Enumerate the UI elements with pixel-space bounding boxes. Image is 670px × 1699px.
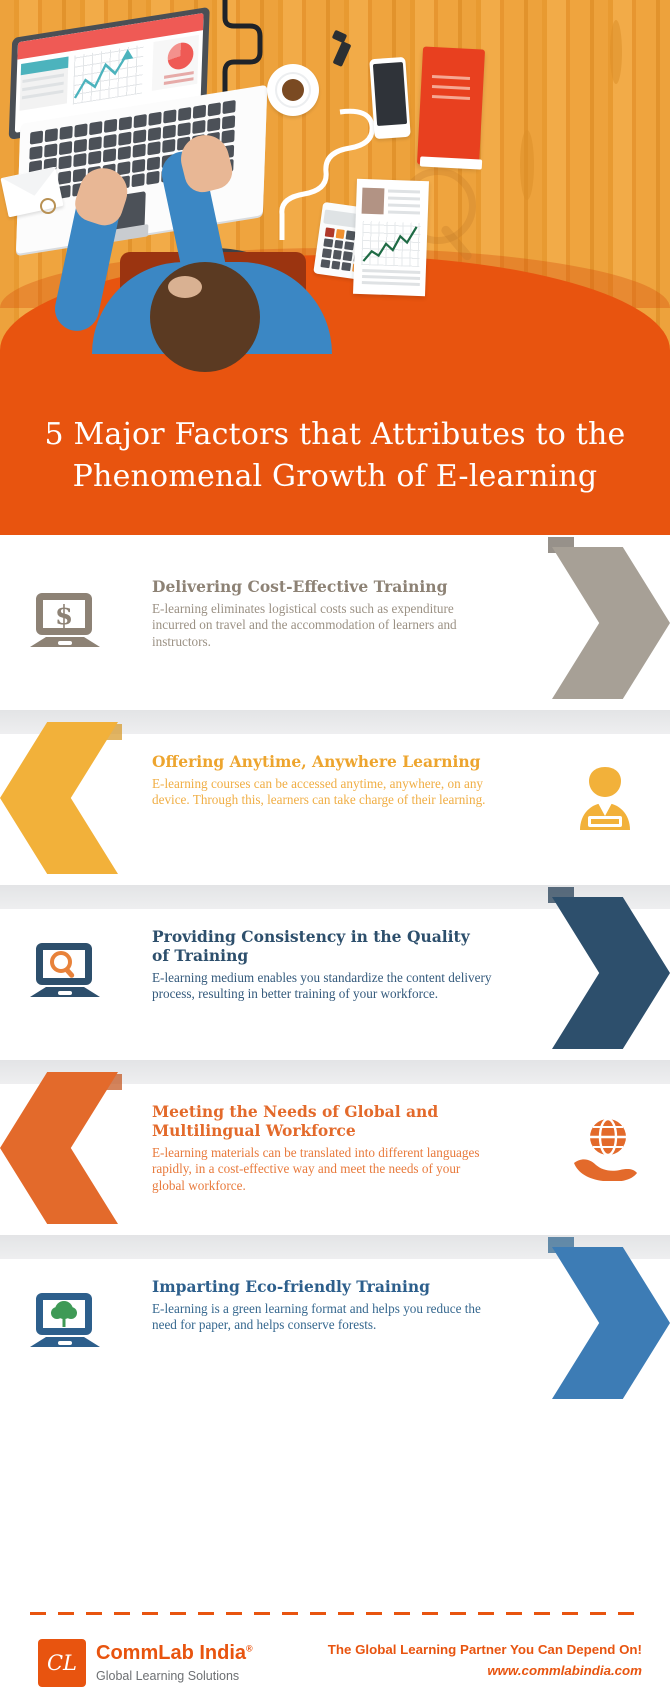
laptop-magnifier-icon [22,935,108,1011]
svg-text:$: $ [55,601,73,631]
laptop-dollar-icon: $ [22,585,108,661]
factors-list: $ Delivering Cost-Effective Training E-l… [0,535,670,1410]
hero-banner: 5 Major Factors that Attributes to the P… [0,0,670,535]
factor-body: E-learning is a green learning format an… [152,1301,492,1334]
wood-knot [520,130,534,200]
factor-text-4: Meeting the Needs of Global and Multilin… [152,1102,492,1194]
factor-heading: Offering Anytime, Anywhere Learning [152,752,492,771]
laptop-tree-icon [22,1285,108,1361]
factor-section-5: Imparting Eco-friendly Training E-learni… [0,1235,670,1410]
factor-section-2: Offering Anytime, Anywhere Learning E-le… [0,710,670,885]
infographic-page: 5 Major Factors that Attributes to the P… [0,0,670,1699]
factor-heading: Providing Consistency in the Quality of … [152,927,492,965]
brand-name-text: CommLab India [96,1642,246,1664]
person-hair-highlight [168,276,202,298]
page-title: 5 Major Factors that Attributes to the P… [0,414,670,498]
factor-text-5: Imparting Eco-friendly Training E-learni… [152,1277,492,1334]
commlab-monogram-icon: CL [38,1639,86,1687]
red-book-icon [417,46,485,167]
smartphone-screen [373,62,407,126]
factor-text-2: Offering Anytime, Anywhere Learning E-le… [152,752,492,809]
laptop-illustration [0,2,275,253]
website-link[interactable]: www.commlabindia.com [487,1663,642,1678]
factor-heading: Delivering Cost-Effective Training [152,577,492,596]
wood-knot [610,20,622,84]
factor-body: E-learning eliminates logistical costs s… [152,601,492,650]
person-laptop-icon [562,760,648,836]
factor-text-1: Delivering Cost-Effective Training E-lea… [152,577,492,650]
report-legend-rows [362,269,421,289]
factor-body: E-learning courses can be accessed anyti… [152,776,492,809]
factor-section-3: Providing Consistency in the Quality of … [0,885,670,1060]
dashed-divider [30,1612,640,1615]
report-thumbnail [362,188,385,215]
factor-heading: Imparting Eco-friendly Training [152,1277,492,1296]
factor-text-3: Providing Consistency in the Quality of … [152,927,492,1003]
brand-name: CommLab India® [96,1642,253,1665]
brand-subtitle: Global Learning Solutions [96,1669,239,1683]
factor-body: E-learning materials can be translated i… [152,1145,492,1194]
footer: CL CommLab India® Global Learning Soluti… [0,1630,670,1699]
report-line-chart [361,221,421,267]
factor-section-4: Meeting the Needs of Global and Multilin… [0,1060,670,1235]
globe-in-hand-icon [562,1110,648,1186]
person-head [150,262,260,372]
factor-section-1: $ Delivering Cost-Effective Training E-l… [0,535,670,710]
footer-tagline: The Global Learning Partner You Can Depe… [328,1642,642,1657]
factor-body: E-learning medium enables you standardiz… [152,970,492,1003]
registered-mark: ® [246,1643,253,1653]
factor-heading: Meeting the Needs of Global and Multilin… [152,1102,492,1140]
coffee-liquid [282,79,304,101]
